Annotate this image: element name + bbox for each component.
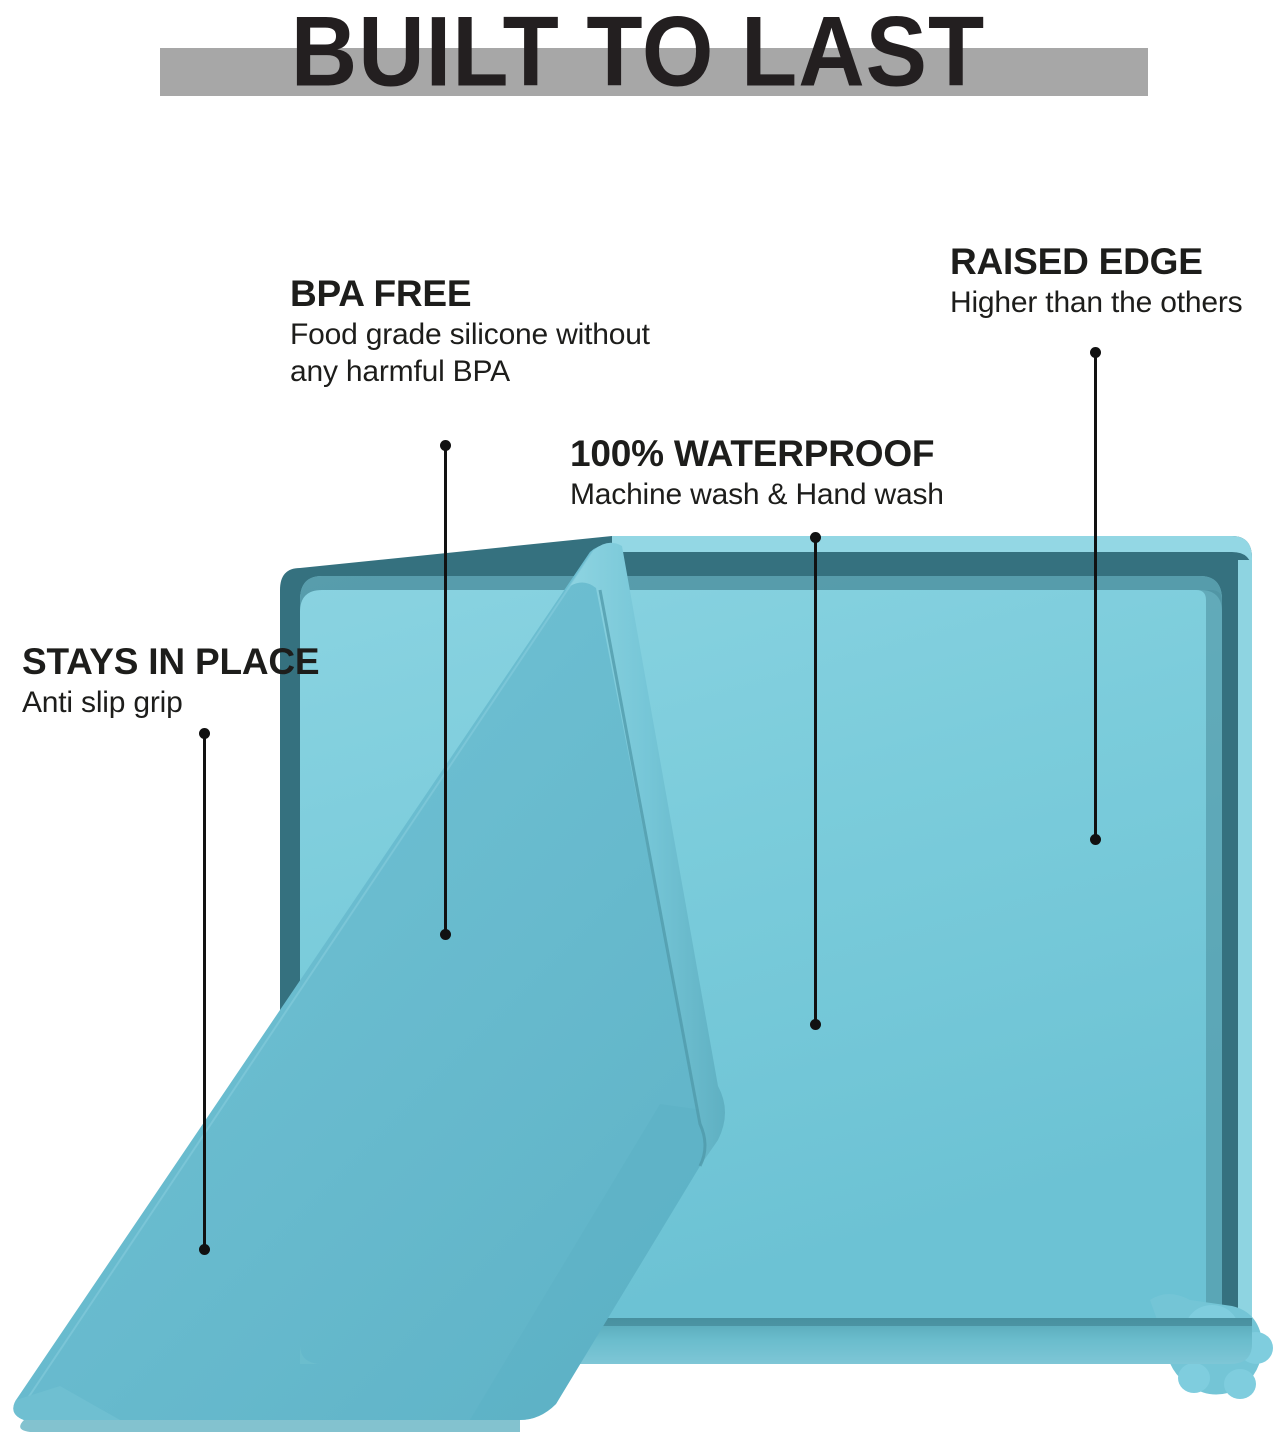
mat-flap-tip-shadow — [20, 1420, 520, 1432]
leader-line-stroke — [444, 445, 447, 935]
leader-dot-end — [440, 929, 451, 940]
callout-subtitle: Food grade silicone without any harmful … — [290, 316, 650, 390]
leader-dot-start — [440, 440, 451, 451]
callout-title: RAISED EDGE — [950, 240, 1242, 284]
leader-dot-start — [810, 532, 821, 543]
leader-line-bpa-free — [440, 445, 451, 935]
callout-subtitle-line1: Machine wash & Hand wash — [570, 478, 944, 511]
leader-dot-end — [199, 1244, 210, 1255]
leader-dot-end — [1090, 834, 1101, 845]
callout-subtitle: Machine wash & Hand wash — [570, 476, 944, 513]
callout-title: 100% WATERPROOF — [570, 432, 944, 476]
leader-line-stroke — [814, 537, 817, 1025]
callout-title: STAYS IN PLACE — [22, 640, 319, 684]
callout-bpa-free: BPA FREE Food grade silicone without any… — [290, 272, 650, 390]
callout-subtitle-line1: Higher than the others — [950, 286, 1242, 319]
leader-line-stays-in-place — [199, 733, 210, 1250]
callout-subtitle: Higher than the others — [950, 284, 1242, 321]
callout-subtitle: Anti slip grip — [22, 684, 319, 721]
callout-raised-edge: RAISED EDGE Higher than the others — [950, 240, 1242, 321]
infographic-page: BUILT TO LAST — [0, 0, 1276, 1456]
leader-line-stroke — [1094, 352, 1097, 840]
callout-subtitle-line2: any harmful BPA — [290, 353, 650, 390]
leader-line-raised-edge — [1090, 352, 1101, 840]
leader-line-stroke — [203, 733, 206, 1250]
callout-waterproof: 100% WATERPROOF Machine wash & Hand wash — [570, 432, 944, 513]
leader-line-waterproof — [810, 537, 821, 1025]
callout-title: BPA FREE — [290, 272, 650, 316]
leader-dot-start — [1090, 347, 1101, 358]
leader-dot-start — [199, 728, 210, 739]
leader-dot-end — [810, 1019, 821, 1030]
callout-subtitle-line1: Anti slip grip — [22, 686, 183, 719]
callout-stays-in-place: STAYS IN PLACE Anti slip grip — [22, 640, 319, 721]
product-illustration — [0, 0, 1276, 1456]
callout-subtitle-line1: Food grade silicone without — [290, 318, 650, 351]
